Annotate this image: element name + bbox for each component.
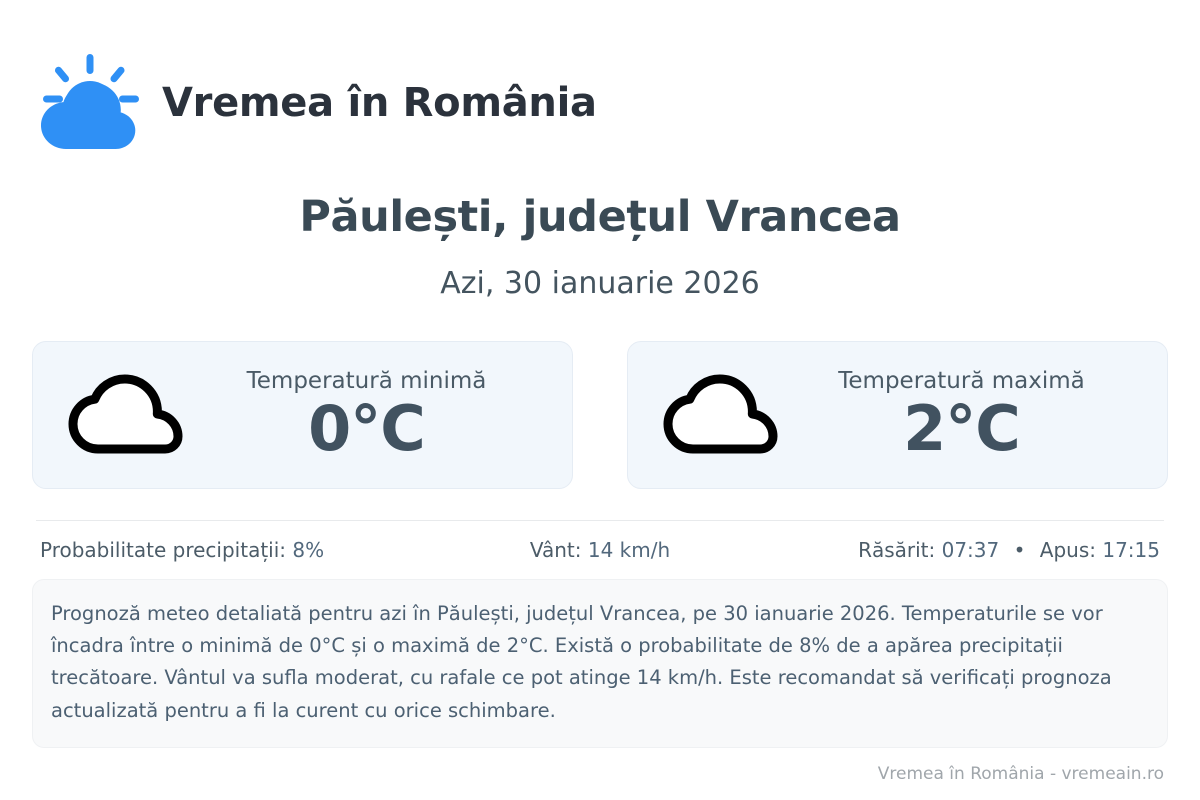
sunset-value: 17:15 bbox=[1102, 538, 1160, 562]
page-title: Păulești, județul Vrancea bbox=[0, 192, 1200, 242]
temperature-cards: Temperatură minimă 0°C Temperatură maxim… bbox=[32, 341, 1168, 489]
sun-times-stat: Răsărit: 07:37 • Apus: 17:15 bbox=[787, 538, 1160, 562]
wind-label: Vânt: bbox=[530, 538, 582, 562]
stats-divider bbox=[36, 520, 1164, 521]
precipitation-label: Probabilitate precipitații: bbox=[40, 538, 286, 562]
precipitation-stat: Probabilitate precipitații: 8% bbox=[40, 538, 413, 562]
forecast-description-box: Prognoză meteo detaliată pentru azi în P… bbox=[32, 579, 1168, 748]
min-temperature-label: Temperatură minimă bbox=[187, 369, 546, 394]
site-logo-text: Vremea în România bbox=[162, 82, 597, 125]
min-temperature-card: Temperatură minimă 0°C bbox=[32, 341, 573, 489]
max-temperature-value: 2°C bbox=[782, 396, 1141, 461]
forecast-description-text: Prognoză meteo detaliată pentru azi în P… bbox=[51, 598, 1143, 727]
sunrise-label: Răsărit: bbox=[858, 538, 935, 562]
precipitation-value: 8% bbox=[292, 538, 324, 562]
min-temperature-texts: Temperatură minimă 0°C bbox=[187, 369, 554, 461]
weather-stats-row: Probabilitate precipitații: 8% Vânt: 14 … bbox=[40, 538, 1160, 562]
wind-value: 14 km/h bbox=[588, 538, 670, 562]
max-temperature-card: Temperatură maximă 2°C bbox=[627, 341, 1168, 489]
sun-behind-cloud-icon bbox=[36, 52, 144, 156]
sunrise-value: 07:37 bbox=[942, 538, 1000, 562]
sun-times-separator: • bbox=[1014, 538, 1026, 562]
max-temperature-label: Temperatură maximă bbox=[782, 369, 1141, 394]
site-logo[interactable]: Vremea în România bbox=[36, 52, 597, 156]
wind-stat: Vânt: 14 km/h bbox=[413, 538, 786, 562]
page-subtitle-date: Azi, 30 ianuarie 2026 bbox=[0, 266, 1200, 301]
cloud-icon bbox=[67, 373, 187, 457]
max-temperature-texts: Temperatură maximă 2°C bbox=[782, 369, 1149, 461]
cloud-icon bbox=[662, 373, 782, 457]
footer-attribution: Vremea în România - vremeain.ro bbox=[878, 764, 1164, 784]
sunset-label: Apus: bbox=[1040, 538, 1096, 562]
min-temperature-value: 0°C bbox=[187, 396, 546, 461]
